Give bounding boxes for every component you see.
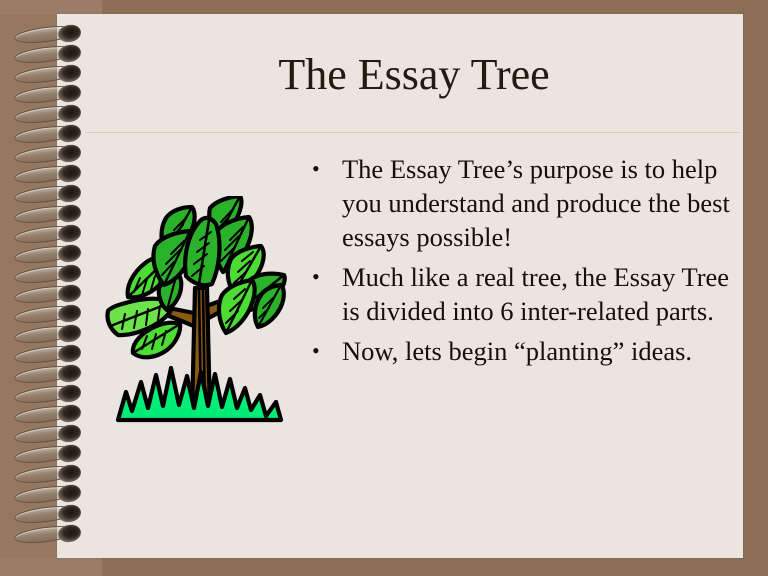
bullet-list: • The Essay Tree’s purpose is to help yo… — [306, 152, 734, 374]
top-left-corner-tab — [0, 0, 102, 15]
tree-illustration — [100, 196, 300, 446]
title-divider — [85, 132, 740, 133]
bullet-marker: • — [306, 334, 342, 367]
leaf-cluster-right — [219, 246, 285, 333]
page-title: The Essay Tree — [96, 52, 732, 99]
bullet-text: The Essay Tree’s purpose is to help you … — [342, 152, 734, 254]
bullet-text: Much like a real tree, the Essay Tree is… — [342, 260, 734, 328]
slide: The Essay Tree — [0, 0, 768, 576]
bullet-text: Now, lets begin “planting” ideas. — [342, 334, 734, 368]
bullet-marker: • — [306, 152, 342, 185]
bottom-left-corner-tab — [0, 558, 102, 576]
list-item: • Now, lets begin “planting” ideas. — [306, 334, 734, 368]
list-item: • Much like a real tree, the Essay Tree … — [306, 260, 734, 328]
grass — [118, 368, 281, 420]
bullet-marker: • — [306, 260, 342, 293]
list-item: • The Essay Tree’s purpose is to help yo… — [306, 152, 734, 254]
